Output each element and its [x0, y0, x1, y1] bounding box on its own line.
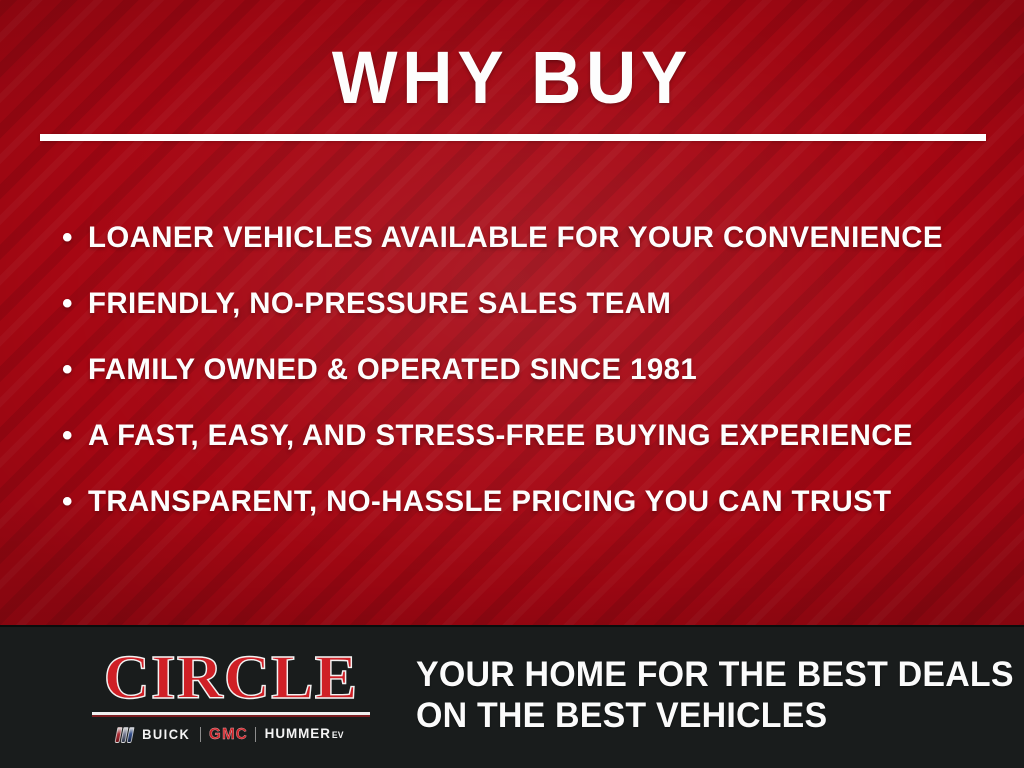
- footer-top-edge: [0, 625, 1024, 627]
- bullet-dot-icon: •: [62, 350, 88, 390]
- list-item-label: LOANER VEHICLES AVAILABLE FOR YOUR CONVE…: [88, 218, 943, 258]
- list-item-label: FRIENDLY, NO-PRESSURE SALES TEAM: [88, 284, 671, 324]
- brand-label-hummer: HUMMER EV: [265, 725, 344, 743]
- list-item: • LOANER VEHICLES AVAILABLE FOR YOUR CON…: [62, 218, 992, 284]
- bullet-dot-icon: •: [62, 482, 88, 522]
- brand-label-buick: BUICK: [142, 726, 190, 742]
- list-item: • TRANSPARENT, NO-HASSLE PRICING YOU CAN…: [62, 482, 992, 548]
- benefits-list: • LOANER VEHICLES AVAILABLE FOR YOUR CON…: [62, 218, 992, 548]
- list-item-label: A FAST, EASY, AND STRESS-FREE BUYING EXP…: [88, 416, 913, 456]
- list-item-label: TRANSPARENT, NO-HASSLE PRICING YOU CAN T…: [88, 482, 891, 522]
- brand-label-hummer-ev: EV: [332, 727, 344, 743]
- list-item-label: FAMILY OWNED & OPERATED SINCE 1981: [88, 350, 697, 390]
- brand-label-hummer-text: HUMMER: [265, 725, 331, 741]
- title-divider: [40, 134, 986, 141]
- footer-tagline: YOUR HOME FOR THE BEST DEALS ON THE BEST…: [416, 654, 979, 736]
- bullet-dot-icon: •: [62, 218, 88, 258]
- list-item: • FRIENDLY, NO-PRESSURE SALES TEAM: [62, 284, 992, 350]
- footer-bar: CIRCLE BUICK GMC HUMMER EV YOUR HOME FOR…: [0, 625, 1024, 768]
- buick-tri-shield-icon: [116, 726, 133, 743]
- bullet-dot-icon: •: [62, 284, 88, 324]
- list-item: • A FAST, EASY, AND STRESS-FREE BUYING E…: [62, 416, 992, 482]
- page-title: WHY BUY: [31, 42, 994, 114]
- footer-tagline-line-1: YOUR HOME FOR THE BEST DEALS: [416, 654, 979, 695]
- dealer-logo: CIRCLE BUICK GMC HUMMER EV: [88, 649, 374, 744]
- bullet-dot-icon: •: [62, 416, 88, 456]
- why-buy-slide: WHY BUY • LOANER VEHICLES AVAILABLE FOR …: [0, 0, 1024, 768]
- list-item: • FAMILY OWNED & OPERATED SINCE 1981: [62, 350, 992, 416]
- footer-tagline-line-2: ON THE BEST VEHICLES: [416, 695, 979, 736]
- logo-divider: [92, 712, 370, 715]
- brand-label-gmc: GMC: [209, 726, 248, 743]
- brand-separator: [255, 727, 256, 742]
- logo-wordmark: CIRCLE: [84, 649, 379, 707]
- brand-strip: BUICK GMC HUMMER EV: [88, 724, 374, 744]
- brand-separator: [200, 727, 201, 742]
